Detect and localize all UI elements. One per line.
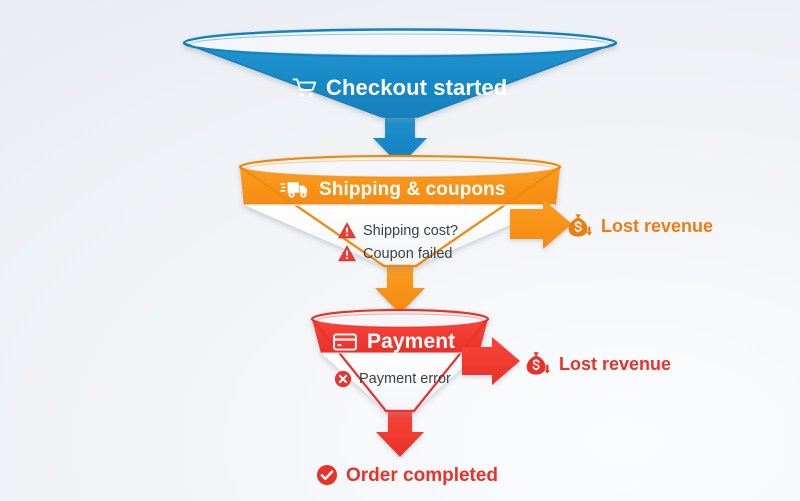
- warning-triangle-icon: [338, 245, 356, 262]
- funnel-diagram: Checkout started Shipping & coupons: [0, 0, 800, 501]
- stage-label-text: Shipping & coupons: [319, 180, 506, 199]
- stage-label-payment: Payment: [333, 331, 455, 352]
- issue-item: Payment error: [334, 370, 451, 388]
- stage-shape-checkout-started: [184, 30, 616, 118]
- issue-label: Shipping cost?: [363, 223, 458, 239]
- stage-label-shipping-coupons: Shipping & coupons: [280, 179, 506, 199]
- issue-label: Payment error: [359, 371, 451, 387]
- stage-shape-payment: [312, 310, 488, 411]
- money-bag-down-icon: [566, 213, 593, 239]
- shopping-cart-icon: [292, 77, 317, 99]
- outcome-label-text: Order completed: [346, 466, 498, 485]
- leak-label-shipping: Lost revenue: [566, 213, 713, 239]
- stage-label-text: Checkout started: [326, 77, 507, 99]
- issue-item: Coupon failed: [338, 245, 453, 262]
- connector-payment-to-outcome: [376, 408, 424, 457]
- delivery-truck-icon: [280, 179, 310, 199]
- outcome-label-order-completed: Order completed: [316, 464, 498, 486]
- money-bag-down-icon: [524, 351, 551, 377]
- leak-label-text: Lost revenue: [559, 355, 671, 373]
- issue-label: Coupon failed: [363, 246, 453, 262]
- credit-card-icon: [333, 333, 357, 351]
- warning-triangle-icon: [338, 222, 356, 239]
- check-circle-icon: [316, 464, 338, 486]
- stage-label-text: Payment: [367, 331, 455, 352]
- issue-item: Shipping cost?: [338, 222, 458, 239]
- leak-label-payment: Lost revenue: [524, 351, 671, 377]
- leak-label-text: Lost revenue: [601, 217, 713, 235]
- connector-shipping-to-payment: [375, 262, 425, 314]
- error-circle-icon: [334, 370, 352, 388]
- stage-label-checkout-started: Checkout started: [292, 77, 507, 99]
